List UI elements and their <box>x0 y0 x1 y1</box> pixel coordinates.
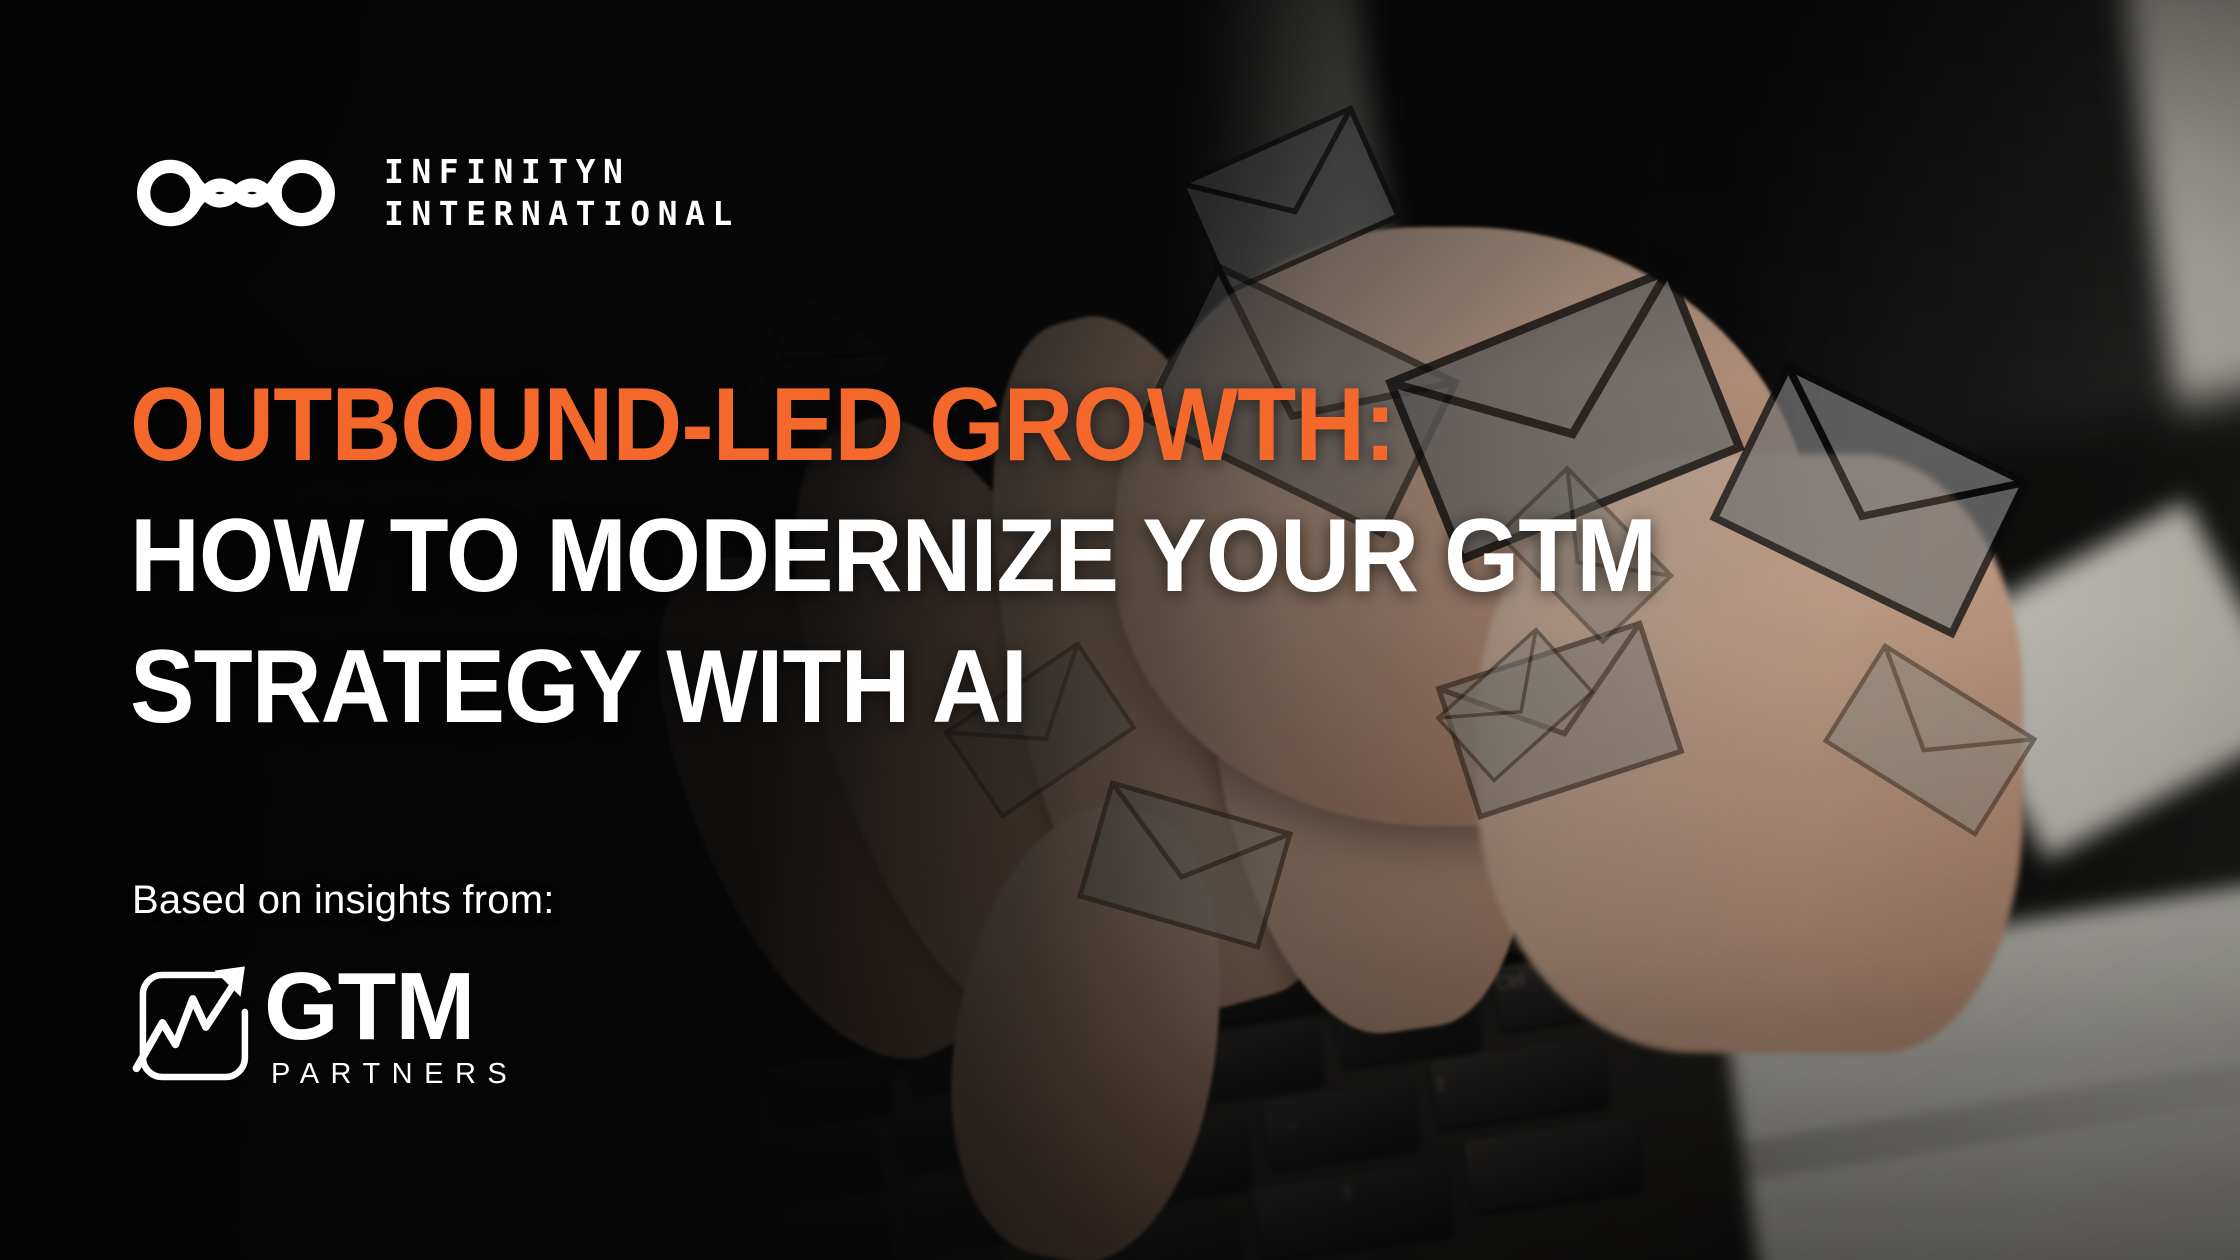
credit-block: Based on insights from: <box>132 880 555 920</box>
gtm-partners-logo: GTM PARTNERS <box>128 962 518 1090</box>
banner-content: INFINITYN INTERNATIONAL OUTBOUND-LED GRO… <box>0 0 2240 1260</box>
headline-line-1: OUTBOUND-LED GROWTH: <box>130 360 1674 491</box>
headline-line-3: STRATEGY WITH AI <box>130 622 1674 753</box>
brand-name-line-1: INFINITYN <box>384 155 740 188</box>
infinityn-wordmark: INFINITYN INTERNATIONAL <box>384 155 740 230</box>
brand-name-line-2: INTERNATIONAL <box>384 197 740 230</box>
banner-canvas: S ^ ↻ ← ~ ⇧ ⇧ Ctrl fn <box>0 0 2240 1260</box>
headline-block: OUTBOUND-LED GROWTH: HOW TO MODERNIZE YO… <box>130 360 1790 753</box>
gtm-name: GTM <box>264 963 474 1051</box>
headline-line-2: HOW TO MODERNIZE YOUR GTM <box>130 491 1674 622</box>
credit-label: Based on insights from: <box>132 880 555 920</box>
infinity-loop-icon <box>132 157 340 229</box>
gtm-subtitle: PARTNERS <box>271 1060 518 1089</box>
infinityn-brand-lockup: INFINITYN INTERNATIONAL <box>132 155 740 230</box>
growth-chart-arrow-icon <box>128 962 262 1090</box>
gtm-wordmark: GTM PARTNERS <box>264 963 518 1089</box>
